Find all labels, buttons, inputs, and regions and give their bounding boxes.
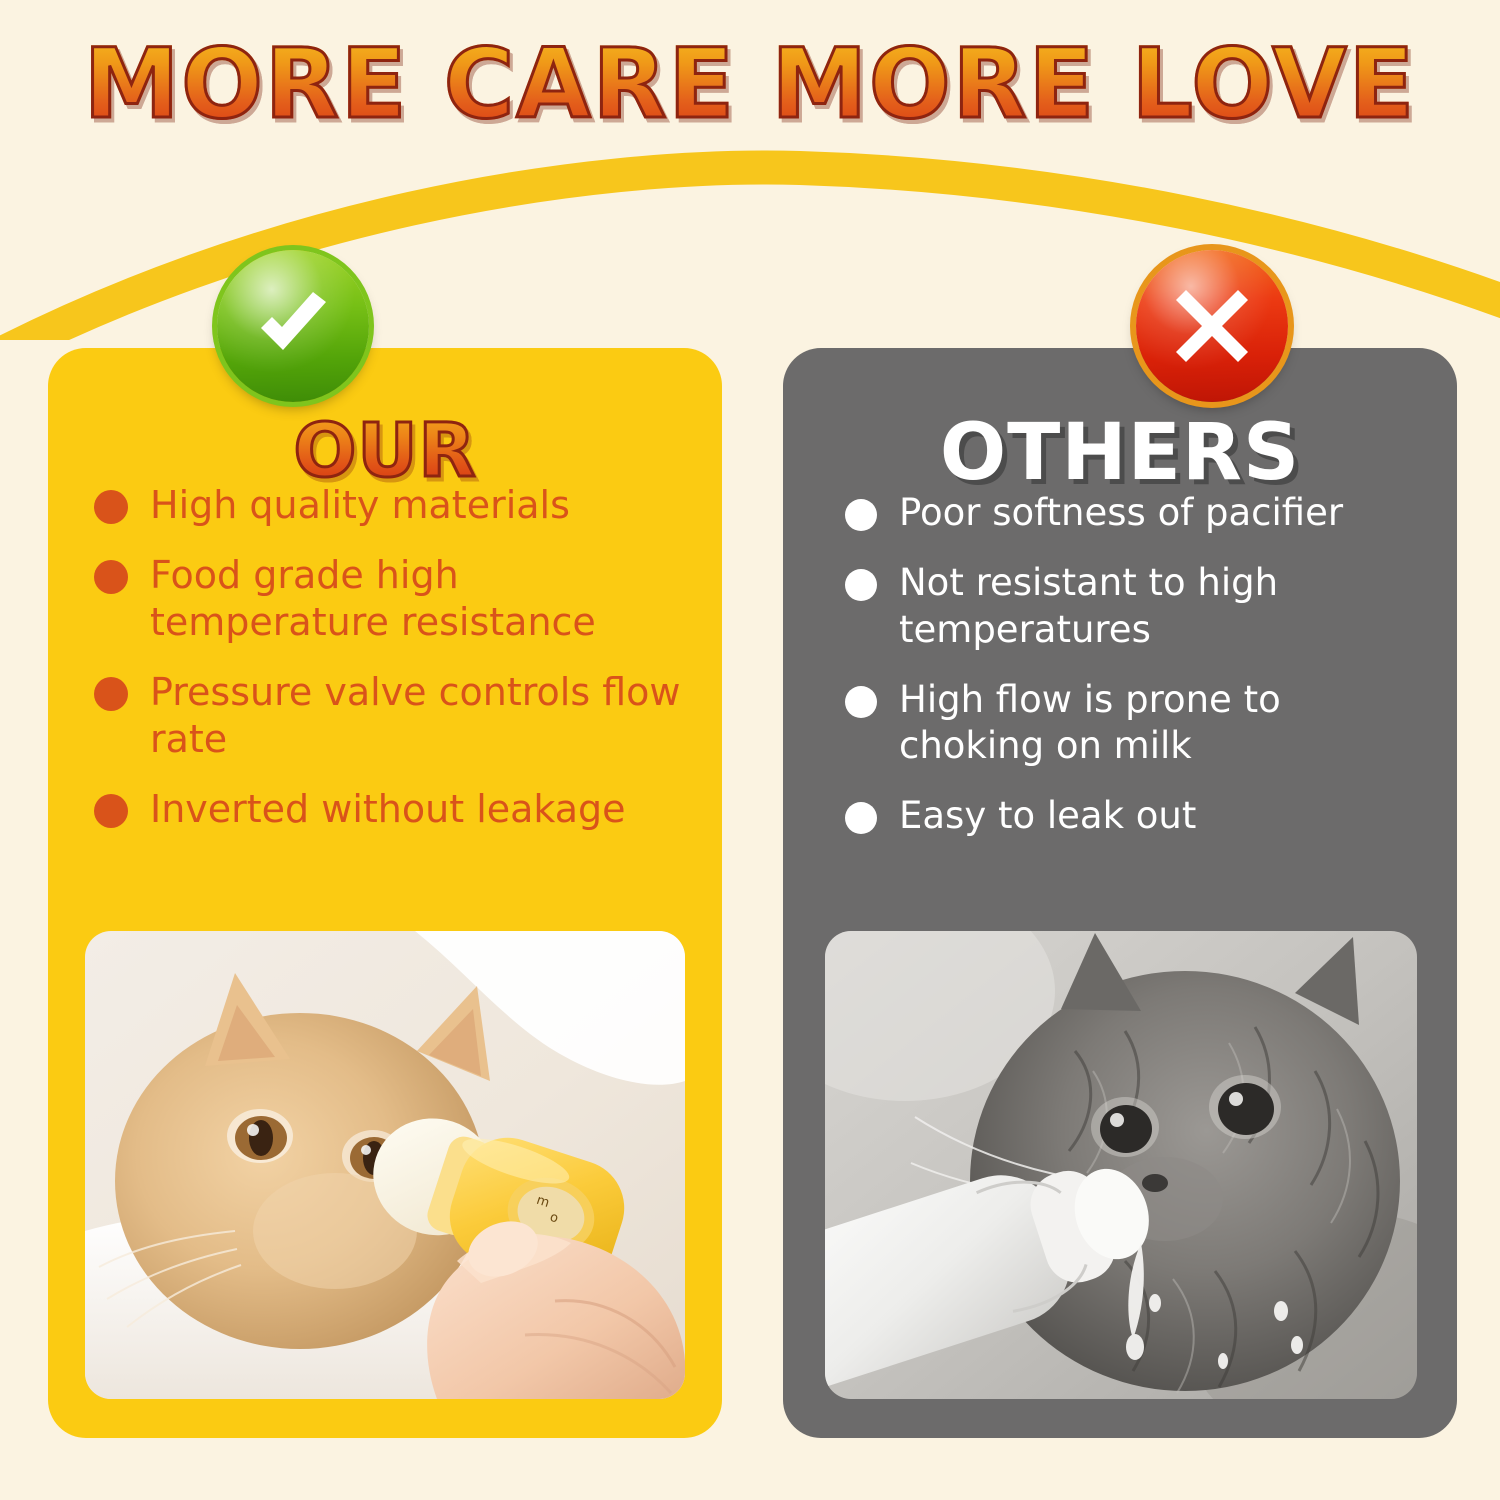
list-item: Poor softness of pacifier [845,490,1435,536]
others-card: OTHERS Poor softness of pacifier Not res… [783,348,1457,1438]
list-item: High flow is prone to choking on milk [845,677,1435,770]
our-heading: OUR [294,414,477,488]
our-bullet-list: High quality materials Food grade high t… [48,448,722,833]
list-item: Easy to leak out [845,793,1435,839]
list-item: Inverted without leakage [94,786,688,834]
our-card: OUR High quality materials Food grade hi… [48,348,722,1438]
list-item: Food grade high temperature resistance [94,552,688,647]
bullet-dot-icon [94,490,128,524]
page-title: MORE CARE MORE LOVE [84,34,1416,136]
red-cross-badge-icon [1136,250,1288,402]
bullet-text: Inverted without leakage [150,786,626,834]
bullet-dot-icon [845,499,877,531]
bullet-text: Poor softness of pacifier [899,490,1343,536]
bullet-text: Food grade high temperature resistance [150,552,688,647]
bullet-dot-icon [845,569,877,601]
bullet-dot-icon [94,677,128,711]
comparison-columns: OUR High quality materials Food grade hi… [48,348,1465,1438]
bullet-dot-icon [845,802,877,834]
bullet-dot-icon [845,686,877,718]
others-product-photo [825,931,1417,1399]
our-heading-wrap: OUR [48,362,722,448]
bullet-dot-icon [94,560,128,594]
bullet-text: Not resistant to high temperatures [899,560,1435,653]
bullet-text: High flow is prone to choking on milk [899,677,1435,770]
bullet-text: Pressure valve controls flow rate [150,669,688,764]
bullet-dot-icon [94,794,128,828]
bullet-text: Easy to leak out [899,793,1196,839]
list-item: Not resistant to high temperatures [845,560,1435,653]
page-title-wrap: MORE CARE MORE LOVE [0,34,1500,136]
our-product-photo: m o [85,931,685,1399]
green-check-badge-icon [217,250,369,402]
others-heading-wrap: OTHERS [783,362,1457,448]
others-heading: OTHERS [940,414,1300,492]
list-item: Pressure valve controls flow rate [94,669,688,764]
infographic-page: MORE CARE MORE LOVE OUR High quality mat… [0,0,1500,1500]
others-bullet-list: Poor softness of pacifier Not resistant … [783,448,1457,840]
